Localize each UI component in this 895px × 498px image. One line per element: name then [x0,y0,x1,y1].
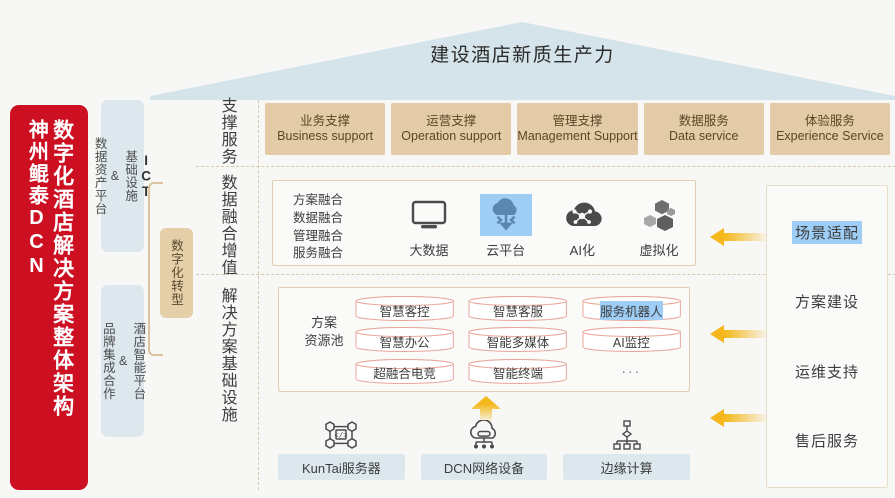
support-service-en: Operation support [401,129,501,144]
title-banner: 数字化酒店解决方案整体架构 神州鲲泰DCN [10,105,88,490]
banner-main-title: 数字化酒店解决方案整体架构 [49,119,73,418]
solution-pool-panel: 方案 资源池 智慧客控 智慧客服 [278,287,690,392]
support-service-en: Experience Service [776,129,884,144]
cloud-network-icon [464,418,504,451]
support-service-card[interactable]: 数据服务 Data service [644,103,764,155]
infra-item-network[interactable]: DCN网络设备 [421,418,548,488]
fusion-item-bigdata[interactable]: 大数据 [398,194,460,259]
server-grid-icon: </> [324,418,358,451]
infrastructure-row: </> KunTai服务器 [278,418,690,488]
pool-item-label: 智能终端 [493,363,543,382]
right-service-item[interactable]: 售后服务 [792,429,862,452]
pool-item-text: 服务机器人 [582,296,681,321]
fusion-keywords: 方案融合 数据融合 管理融合 服务融合 [293,192,343,263]
infra-item-edge[interactable]: 边缘计算 [563,418,690,488]
pool-item[interactable]: 智慧客服 [468,296,567,321]
left-box-ict-line4: 数据资产平台 [91,137,106,215]
row-label-support: 支撑服务 [196,104,258,158]
fusion-keyword: 数据融合 [293,210,343,228]
fusion-item-label: 虚拟化 [639,240,678,259]
support-service-en: Management Support [517,129,637,144]
pool-item-text: 智能多媒体 [468,327,567,352]
right-service-item[interactable]: 场景适配 [792,221,862,244]
monitor-icon [411,194,447,236]
pool-item-label: 智慧客服 [493,301,543,320]
pool-item-more: ··· [582,359,681,384]
cubes-icon [640,194,678,236]
solution-pool-label-line1: 方案 [293,314,355,332]
left-box-hotel-platform[interactable]: 酒店智能平台 & 品牌集成合作 [101,285,144,437]
pool-item-text: 智能终端 [468,359,567,384]
support-service-cn: 运营支撑 [426,114,476,129]
infra-item-label: DCN网络设备 [421,454,548,480]
svg-text:</>: </> [335,432,349,440]
fusion-item-label: AI化 [570,240,595,259]
support-service-en: Data service [669,129,738,144]
pool-item-text: 超融合电竞 [355,359,454,384]
ai-cloud-icon [562,194,602,236]
support-service-card[interactable]: 运营支撑 Operation support [391,103,511,155]
support-service-cn: 体验服务 [805,114,855,129]
support-service-cn: 管理支撑 [553,114,603,129]
pool-item-text: 智慧客服 [468,296,567,321]
banner-sub-title: 神州鲲泰DCN [24,119,47,279]
solution-pool-label: 方案 资源池 [293,314,355,350]
edge-compute-icon [610,418,644,451]
fusion-item-cloud[interactable]: 云平台 [475,194,537,259]
left-box-hotel-line1: 酒店智能平台 [130,322,145,400]
pool-item-text: 智慧办公 [355,327,454,352]
left-box-ict-line3: & [107,169,122,184]
left-box-ict-infrastructure[interactable]: ICT 基础设施 & 数据资产平台 [101,100,144,252]
support-service-cn: 业务支撑 [300,114,350,129]
vertical-divider [258,100,259,490]
support-service-card[interactable]: 管理支撑 Management Support [517,103,637,155]
right-service-item[interactable]: 运维支持 [792,360,862,383]
right-services-panel: 场景适配 方案建设 运维支持 售后服务 [766,185,888,488]
digital-transformation-label: 数字化转型 [167,239,186,307]
pool-item[interactable]: 智能终端 [468,359,567,384]
fusion-item-label: 大数据 [409,240,448,259]
fusion-keyword: 方案融合 [293,192,343,210]
solution-pool-grid: 智慧客控 智慧客服 服务机器人 [355,296,681,386]
digital-transformation-badge[interactable]: 数字化转型 [160,228,193,318]
pool-item-label: 智慧客控 [380,301,430,320]
pool-item[interactable]: 智慧办公 [355,327,454,352]
pool-item[interactable]: 智能多媒体 [468,327,567,352]
row-divider-1 [196,166,895,167]
fusion-keyword: 管理融合 [293,228,343,246]
left-box-ict-line2: 基础设施 [122,150,137,202]
left-arrow-icon-2 [710,324,768,344]
pool-item[interactable]: 智慧客控 [355,296,454,321]
architecture-diagram: 数字化酒店解决方案整体架构 神州鲲泰DCN ICT 基础设施 & 数据资产平台 … [0,0,895,498]
fusion-item-virtualization[interactable]: 虚拟化 [628,194,690,259]
cloud-sync-icon [480,194,532,236]
row-label-solution-infra: 解决方案基础设施 [196,300,258,410]
left-box-hotel-line2: & [115,354,130,369]
pool-item[interactable]: AI监控 [582,327,681,352]
pool-item-label: 智能多媒体 [487,332,550,351]
row-label-data-fusion: 数据融合增值 [196,190,258,260]
support-service-card[interactable]: 业务支撑 Business support [265,103,385,155]
left-arrow-icon-3 [710,408,768,428]
pool-item-label: 超融合电竞 [373,363,436,382]
fusion-items: 大数据 云平台 [398,189,690,259]
infra-item-label: 边缘计算 [563,454,690,480]
roof-shape: 建设酒店新质生产力 [150,22,895,100]
left-arrow-icon-1 [710,227,768,247]
infra-item-label: KunTai服务器 [278,454,405,480]
support-services-row: 业务支撑 Business support 运营支撑 Operation sup… [265,103,890,155]
pool-item-label: AI监控 [613,332,650,351]
roof-title: 建设酒店新质生产力 [150,22,895,100]
row-label-solution-infra-text: 解决方案基础设施 [217,287,236,423]
pool-item[interactable]: 服务机器人 [582,296,681,321]
pool-item-text: 智慧客控 [355,296,454,321]
pool-item[interactable]: 超融合电竞 [355,359,454,384]
pool-item-label: 智慧办公 [380,332,430,351]
left-box-hotel-line3: 品牌集成合作 [100,322,115,400]
support-service-cn: 数据服务 [679,114,729,129]
fusion-keyword: 服务融合 [293,245,343,263]
row-label-data-fusion-text: 数据融合增值 [217,174,236,276]
infra-item-server[interactable]: </> KunTai服务器 [278,418,405,488]
data-fusion-panel: 方案融合 数据融合 管理融合 服务融合 大数据 [272,180,696,266]
fusion-item-label: 云平台 [486,240,525,259]
right-service-item[interactable]: 方案建设 [792,290,862,313]
support-service-en: Business support [277,129,373,144]
pool-item-label: 服务机器人 [600,301,663,320]
support-service-card[interactable]: 体验服务 Experience Service [770,103,890,155]
fusion-item-ai[interactable]: AI化 [551,194,613,259]
solution-pool-label-line2: 资源池 [293,332,355,350]
row-label-support-text: 支撑服务 [217,97,236,165]
pool-item-text: AI监控 [582,327,681,352]
